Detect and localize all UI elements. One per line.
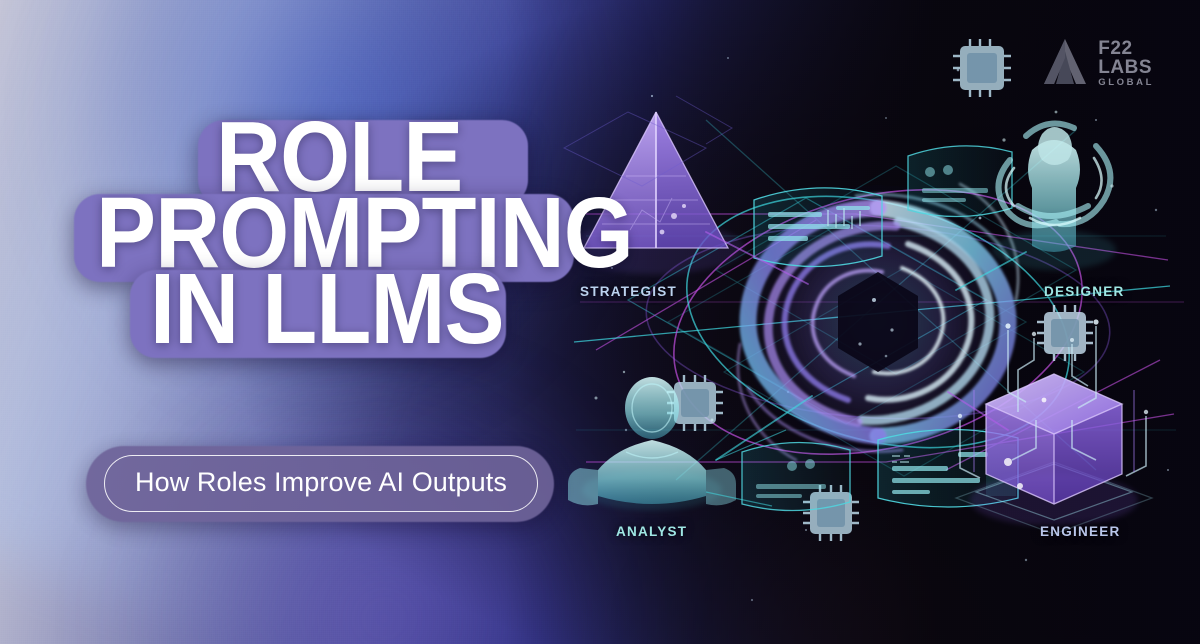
page-title: ROLE PROMPTING IN LLMS [0,112,620,340]
holographic-panel-top-left [754,188,882,267]
hero-artwork: STRATEGIST DESIGNER ANALYST ENGINEER [556,0,1200,644]
subtitle: How Roles Improve AI Outputs [104,455,538,512]
logo-line-3: GLOBAL [1098,78,1154,88]
logo-line-1: F22 [1098,39,1154,58]
hero-banner: F22 LABS GLOBAL ROLE PROMPTING IN LLMS H… [0,0,1200,644]
microchip-icon-top-right [953,39,1011,97]
role-label-analyst: ANALYST [616,524,687,539]
microchip-icon-right [1037,305,1093,361]
subtitle-text: How Roles Improve AI Outputs [104,455,538,512]
logo-line-2: LABS [1098,58,1154,77]
brand-logo[interactable]: F22 LABS GLOBAL [1043,38,1154,88]
logo-mark-icon [1043,38,1087,88]
holographic-panel-bottom-left [742,442,850,510]
role-label-designer: DESIGNER [1044,284,1125,299]
role-label-engineer: ENGINEER [1040,524,1121,539]
logo-wordmark: F22 LABS GLOBAL [1098,39,1154,87]
artwork-scene [556,0,1200,644]
title-line-3: IN LLMS [150,264,620,354]
title-text-3: IN LLMS [150,264,504,354]
